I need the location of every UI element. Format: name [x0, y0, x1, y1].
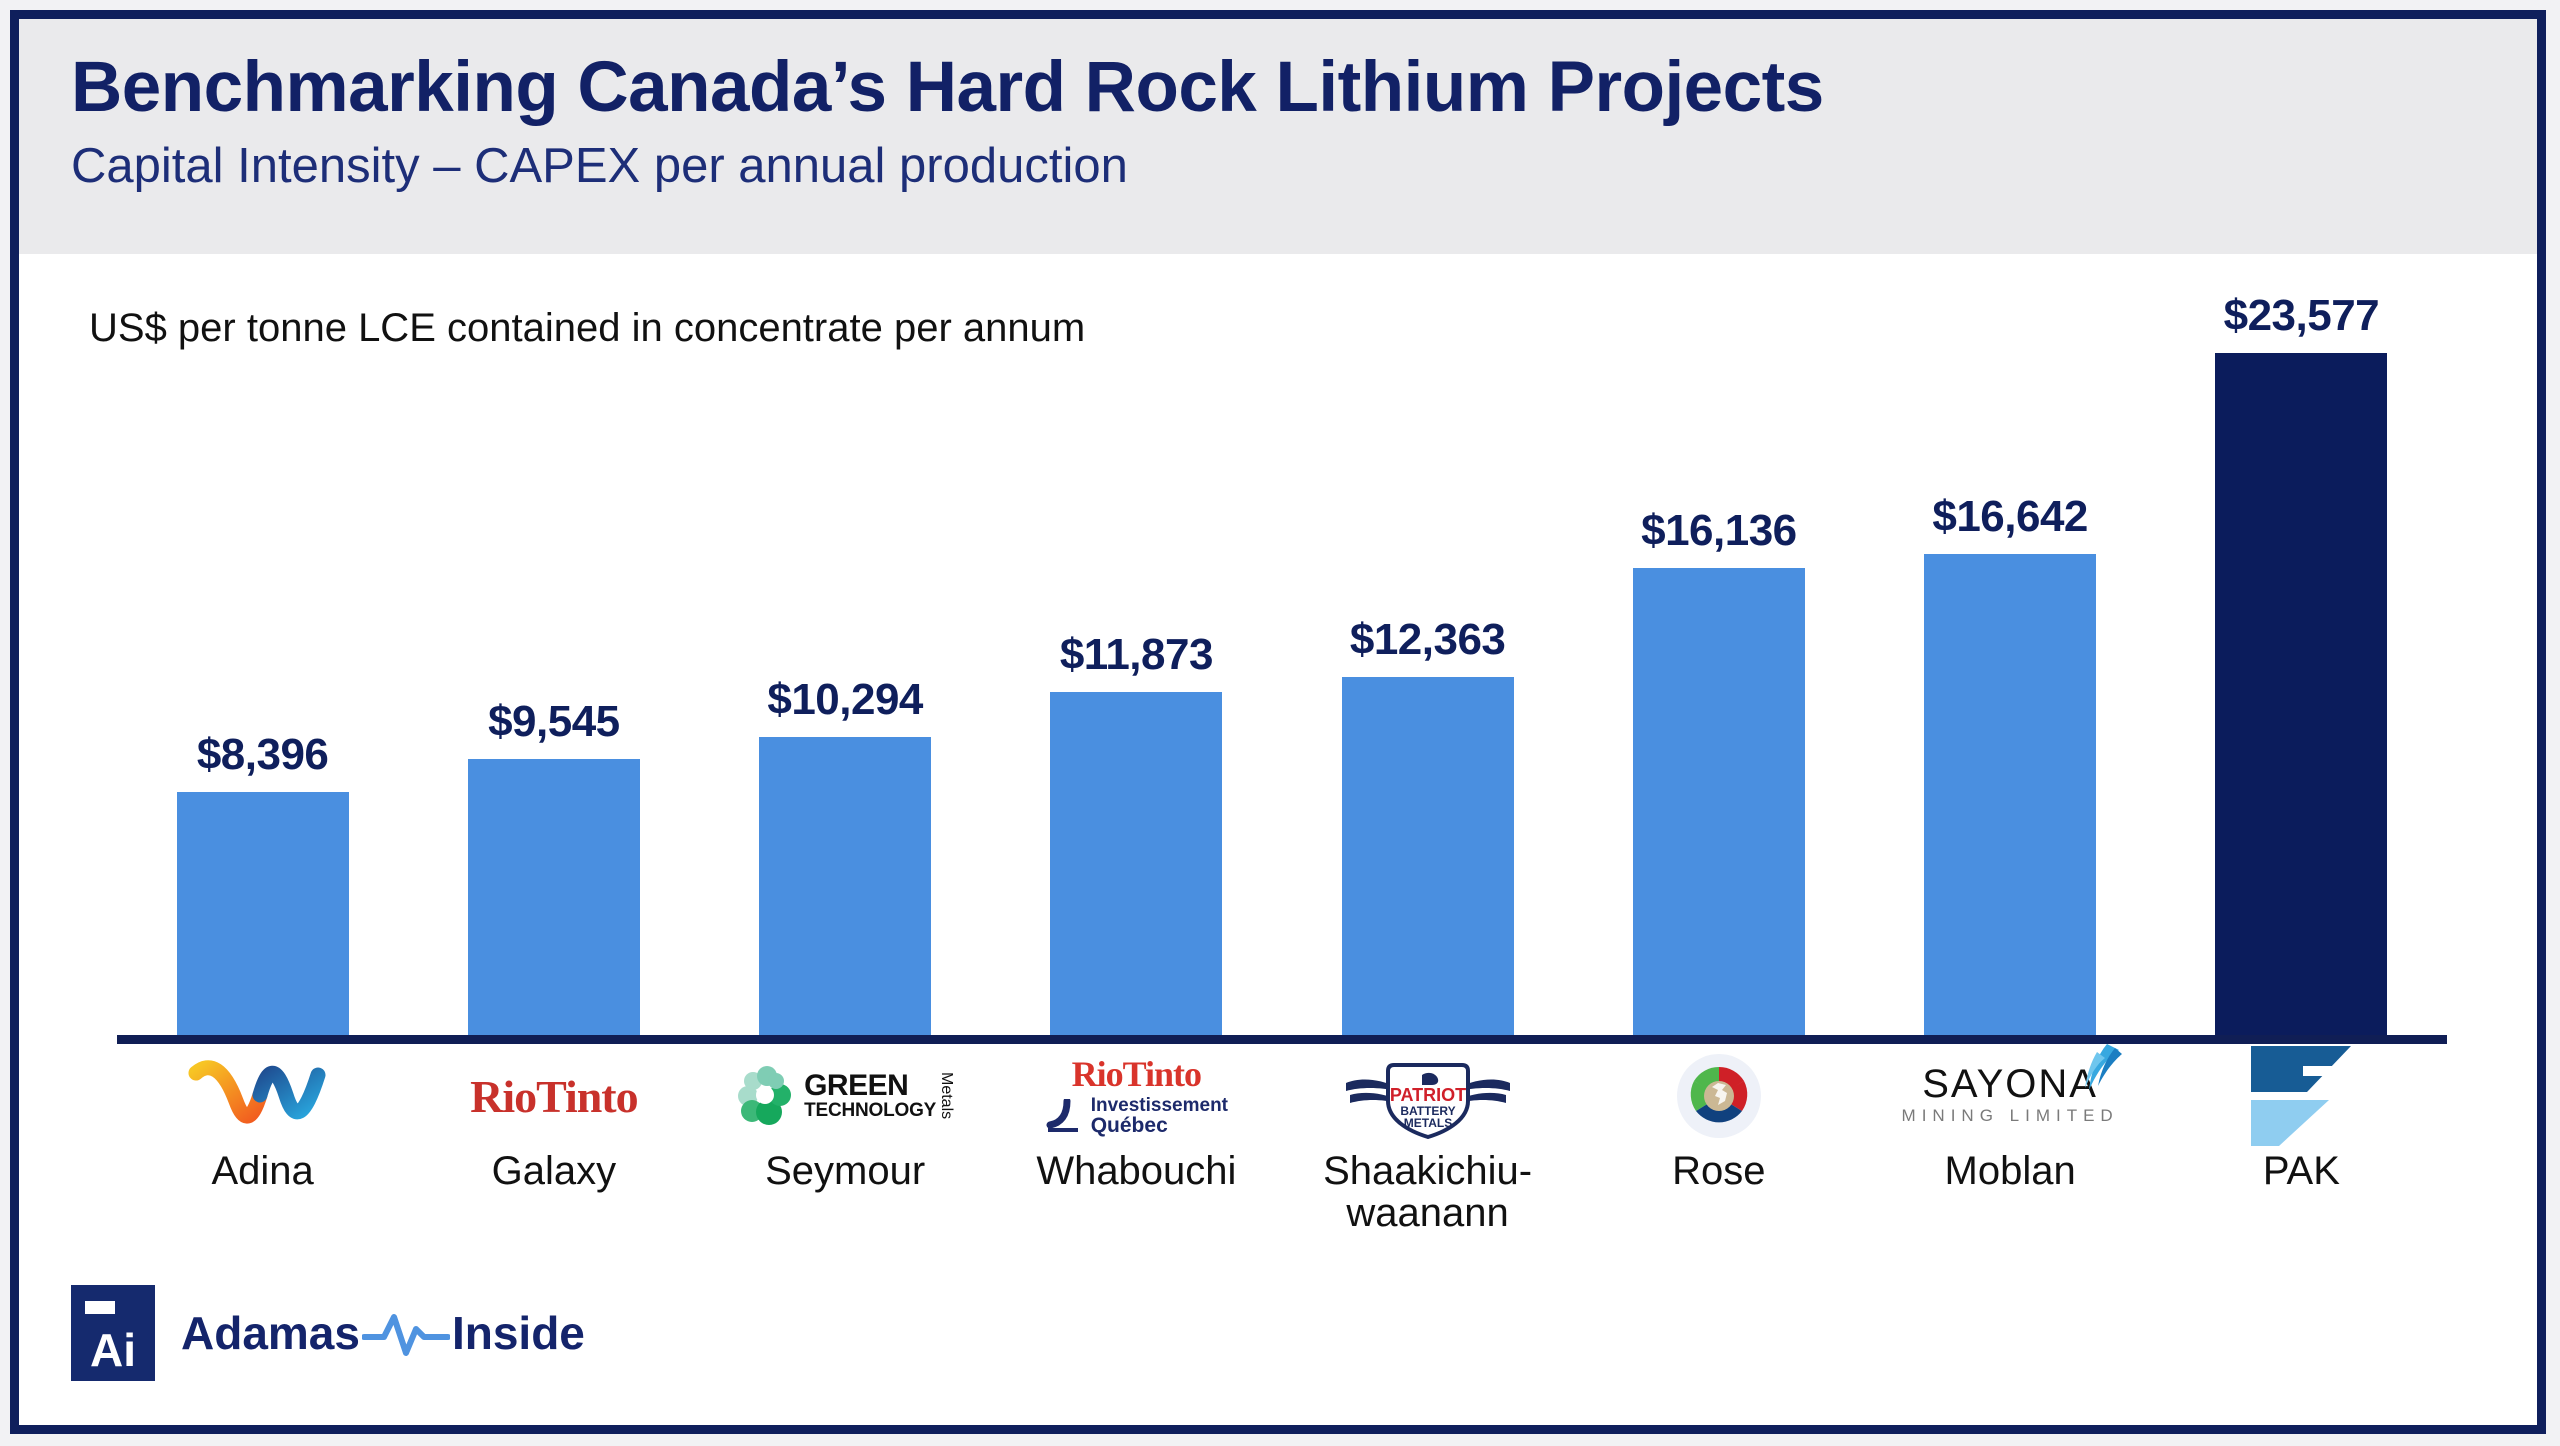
category-label-line2: waanann — [1323, 1192, 1532, 1234]
mark-dash-icon — [85, 1301, 115, 1314]
bar-group-rose: $16,136 — [1573, 275, 1864, 1035]
category-label: Seymour — [765, 1150, 925, 1192]
adamas-mark-icon: Ai — [71, 1285, 155, 1381]
bar-rect — [2215, 353, 2387, 1035]
bar-group-whabouchi: $11,873 — [991, 275, 1282, 1035]
category-group: Rose — [1573, 1044, 1864, 1235]
bar-value-label: $16,136 — [1641, 506, 1797, 556]
bar-rect — [177, 792, 349, 1035]
bar-rect — [468, 759, 640, 1035]
critical-elements-globe-logo — [1604, 1050, 1834, 1142]
category-label: Rose — [1672, 1150, 1765, 1192]
x-axis-categories: AdinaRioTintoGalaxy GREEN TECHNOLOGY — [117, 1044, 2447, 1235]
bar-value-label: $12,363 — [1350, 615, 1506, 665]
pulse-icon — [362, 1307, 450, 1359]
category-group: RioTintoGalaxy — [408, 1044, 699, 1235]
bar-rect — [1342, 677, 1514, 1035]
bar-group-galaxy: $9,545 — [408, 275, 699, 1035]
category-label: Whabouchi — [1036, 1150, 1236, 1192]
svg-text:METALS: METALS — [1403, 1116, 1451, 1130]
category-label: Moblan — [1945, 1150, 2076, 1192]
category-group: PAK — [2156, 1044, 2447, 1235]
bar-value-label: $23,577 — [2224, 291, 2380, 341]
category-group: PATRIOT BATTERY METALS Shaakichiu-waanan… — [1282, 1044, 1573, 1235]
bar-group-moblan: $16,642 — [1865, 275, 2156, 1035]
svg-text:PATRIOT: PATRIOT — [1389, 1085, 1465, 1105]
bar-group-adina: $8,396 — [117, 275, 408, 1035]
category-label: Adina — [211, 1150, 313, 1192]
bar-group-pak: $23,577 — [2156, 275, 2447, 1035]
sayona-mining-logo: SAYONA MINING LIMITED — [1895, 1050, 2125, 1142]
bar-value-label: $8,396 — [197, 730, 329, 780]
bar-chart-plot: $8,396$9,545$10,294$11,873$12,363$16,136… — [117, 254, 2447, 1044]
rio-tinto-logo: RioTinto — [439, 1050, 669, 1142]
brand-word-inside: Inside — [452, 1306, 585, 1360]
bar-value-label: $10,294 — [767, 675, 923, 725]
bar-value-label: $11,873 — [1060, 630, 1213, 680]
header-band: Benchmarking Canada’s Hard Rock Lithium … — [19, 19, 2537, 254]
category-label: PAK — [2263, 1150, 2340, 1192]
rio-tinto-investissement-quebec-logo: RioTinto Investissement Québec — [1021, 1050, 1251, 1142]
page-subtitle: Capital Intensity – CAPEX per annual pro… — [71, 141, 2537, 192]
mark-ai-label: Ai — [71, 1327, 155, 1373]
patriot-battery-metals-logo: PATRIOT BATTERY METALS — [1313, 1050, 1543, 1142]
bar-rect — [759, 737, 931, 1035]
bar-group-shaakichiu-waanann: $12,363 — [1282, 275, 1573, 1035]
category-group: Adina — [117, 1044, 408, 1235]
brand-logo: Ai Adamas Inside — [71, 1285, 585, 1381]
brand-wordmark: Adamas Inside — [181, 1306, 585, 1360]
category-label: Galaxy — [492, 1150, 617, 1192]
green-technology-metals-logo: GREEN TECHNOLOGY Metals — [730, 1050, 960, 1142]
bar-value-label: $9,545 — [488, 697, 620, 747]
category-group: GREEN TECHNOLOGY Metals Seymour — [700, 1044, 991, 1235]
bar-series: $8,396$9,545$10,294$11,873$12,363$16,136… — [117, 275, 2447, 1035]
bar-rect — [1924, 554, 2096, 1035]
category-label-line1: Shaakichiu- — [1323, 1150, 1532, 1192]
category-label: Shaakichiu-waanann — [1323, 1150, 1532, 1235]
bar-value-label: $16,642 — [1932, 492, 2088, 542]
winsome-resources-logo — [148, 1050, 378, 1142]
frontier-lithium-logo — [2186, 1050, 2416, 1142]
bar-group-seymour: $10,294 — [700, 275, 991, 1035]
category-group: SAYONA MINING LIMITED Moblan — [1865, 1044, 2156, 1235]
page-title: Benchmarking Canada’s Hard Rock Lithium … — [71, 51, 2537, 125]
category-group: RioTinto Investissement Québec Whabouchi — [991, 1044, 1282, 1235]
bar-rect — [1050, 692, 1222, 1035]
brand-word-adamas: Adamas — [181, 1306, 360, 1360]
chart-area: US$ per tonne LCE contained in concentra… — [19, 254, 2537, 1425]
bar-rect — [1633, 568, 1805, 1035]
infographic-card: Benchmarking Canada’s Hard Rock Lithium … — [10, 10, 2546, 1434]
